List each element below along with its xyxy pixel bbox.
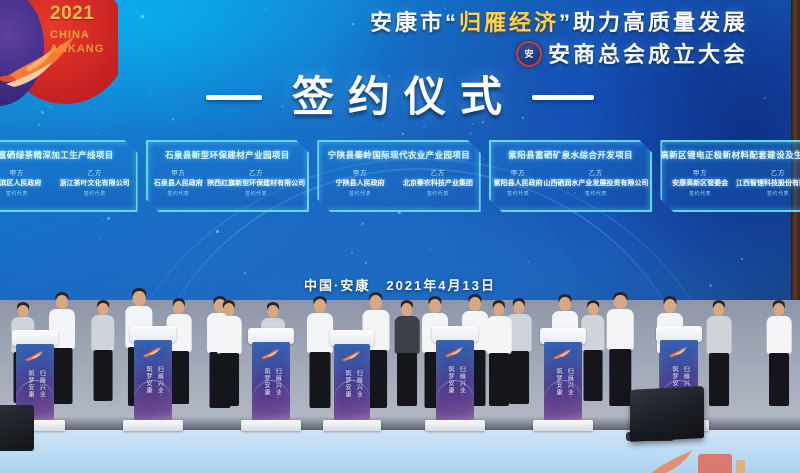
- page-title: 签约仪式: [278, 76, 516, 118]
- podium-base: [425, 420, 485, 431]
- attendee-torso: [91, 315, 114, 351]
- party-a-role: 甲方: [664, 170, 736, 178]
- party-a-sign: 签约代表: [150, 190, 208, 197]
- panel-parties: 甲方 宁陕县人民政府 签约代表 乙方 北京秦农科技产业集团 签约代表: [321, 170, 477, 197]
- party-a-name: 宁陕县人民政府: [321, 180, 399, 188]
- goose-mark-icon: [260, 347, 282, 361]
- ceremony-title-block: 签约仪式: [0, 76, 800, 118]
- goose-mark-icon: [668, 345, 690, 359]
- party-a-role: 甲方: [150, 170, 208, 178]
- party-a: 甲方 石泉县人民政府 签约代表: [150, 170, 208, 197]
- logo-wordmark: 2021 CHINA ANKANG: [50, 4, 104, 55]
- party-a-sign: 签约代表: [0, 190, 56, 197]
- attendee-torso: [217, 316, 242, 354]
- project-title: 石泉县新型环保建材产业园项目: [146, 149, 310, 161]
- party-a: 甲方 紫阳县人民政府 签约代表: [493, 170, 544, 197]
- attendee-head: [773, 303, 784, 316]
- attendee-head: [133, 291, 146, 306]
- attendee-legs: [584, 350, 603, 400]
- attendee-torso: [487, 316, 512, 354]
- party-a-name: 汉滨区人民政府: [0, 180, 56, 188]
- party-a-name: 安康高新区管委会: [664, 180, 736, 188]
- attendee-legs: [310, 352, 331, 408]
- party-b-name: 北京秦农科技产业集团: [399, 180, 477, 188]
- attendee-head: [314, 299, 326, 313]
- party-b-role: 乙方: [56, 170, 134, 178]
- party-b: 乙方 山西硒润水产业发展投资有限公司 签约代表: [543, 170, 648, 197]
- quote-close: ”: [559, 10, 573, 35]
- project-title: 富硒绿茶精深加工生产线项目: [0, 149, 138, 161]
- party-a-role: 甲方: [321, 170, 399, 178]
- panel-parties: 甲方 紫阳县人民政府 签约代表 乙方 山西硒润水产业发展投资有限公司 签约代表: [493, 170, 649, 197]
- anshang-chamber-emblem-icon: [516, 41, 542, 67]
- podium-banner: 归雁兴业·筑梦安康: [334, 344, 370, 421]
- project-panel-row: 富硒绿茶精深加工生产线项目 甲方 汉滨区人民政府 签约代表 乙方 浙江茶叶文化有…: [0, 140, 800, 215]
- attendee-legs: [709, 353, 729, 406]
- attendee-head: [429, 299, 441, 313]
- goose-mark-icon: [24, 349, 46, 363]
- party-b-name: 浙江茶叶文化有限公司: [56, 180, 134, 188]
- party-a-role: 甲方: [493, 170, 544, 178]
- title-left-rule: [206, 95, 262, 100]
- party-b-sign: 签约代表: [736, 190, 800, 197]
- party-b-sign: 签约代表: [207, 190, 305, 197]
- podium-banner: 归雁兴业·筑梦安康: [252, 342, 290, 421]
- goose-mark-icon: [341, 349, 363, 363]
- party-b-name: 陕西红旗新型环保建材有限公司: [207, 180, 305, 188]
- podium-banner: 归雁兴业·筑梦安康: [436, 340, 474, 421]
- party-a-sign: 签约代表: [493, 190, 544, 197]
- attendee: [760, 300, 798, 433]
- party-b: 乙方 北京秦农科技产业集团 签约代表: [399, 170, 477, 197]
- attendee-legs: [94, 350, 113, 400]
- attendee-head: [18, 305, 29, 318]
- date-cn-value: 2021年4月13日: [386, 278, 496, 293]
- party-b-role: 乙方: [543, 170, 648, 178]
- attendee: [700, 300, 738, 433]
- project-panel: 石泉县新型环保建材产业园项目 甲方 石泉县人民政府 签约代表 乙方 陕西红旗新型…: [146, 140, 310, 212]
- attendee-head: [268, 305, 279, 318]
- panel-parties: 甲方 汉滨区人民政府 签约代表 乙方 浙江茶叶文化有限公司 签约代表: [0, 170, 134, 197]
- logo-year: 2021: [50, 4, 104, 23]
- party-b: 乙方 陕西红旗新型环保建材有限公司 签约代表: [207, 170, 305, 197]
- project-panel: 紫阳县富硒矿泉水综合开发项目 甲方 紫阳县人民政府 签约代表 乙方 山西硒润水产…: [489, 140, 653, 212]
- attendee-legs: [610, 349, 631, 406]
- attendee-head: [56, 295, 68, 309]
- signing-podium: 归雁兴业·筑梦安康: [330, 330, 374, 431]
- party-a-sign: 签约代表: [664, 190, 736, 197]
- goose-mark-icon: [552, 347, 574, 361]
- party-b-name: 山西硒润水产业发展投资有限公司: [543, 180, 648, 188]
- signing-podium: 归雁兴业·筑梦安康: [540, 328, 586, 431]
- panel-parties: 甲方 安康高新区管委会 签约代表 乙方 江西智锂科技股份有限公司 签约代表: [664, 170, 800, 197]
- party-b-sign: 签约代表: [543, 190, 648, 197]
- attendee-head: [98, 303, 109, 316]
- attendee-legs: [397, 353, 417, 406]
- party-a: 甲方 安康高新区管委会 签约代表: [664, 170, 736, 197]
- party-b-role: 乙方: [736, 170, 800, 178]
- place-cn: 中国·安康: [304, 278, 370, 293]
- headline-line-1: 安康市“归雁经济”助力高质量发展: [370, 10, 748, 35]
- attendee-head: [223, 303, 234, 316]
- logo-country: CHINA: [50, 30, 104, 41]
- attendee-head: [664, 299, 676, 313]
- panel-parties: 甲方 石泉县人民政府 签约代表 乙方 陕西红旗新型环保建材有限公司 签约代表: [150, 170, 306, 197]
- project-panel: 富硒绿茶精深加工生产线项目 甲方 汉滨区人民政府 签约代表 乙方 浙江茶叶文化有…: [0, 140, 138, 212]
- stage-monitor-left: [0, 405, 34, 451]
- headline-subtitle: 安商总会成立大会: [548, 42, 748, 67]
- attendee-torso: [707, 316, 732, 354]
- attendee-legs: [219, 353, 239, 406]
- podium-base: [533, 420, 593, 431]
- attendee-head: [588, 303, 599, 316]
- attendee-head: [401, 303, 412, 316]
- floor-logo-graphic: [636, 440, 756, 473]
- attendee-head: [713, 303, 724, 316]
- party-b-role: 乙方: [399, 170, 477, 178]
- project-panel: 宁陕县秦岭国际现代农业产业园项目 甲方 宁陕县人民政府 签约代表 乙方 北京秦农…: [317, 140, 481, 212]
- attendee: [480, 300, 518, 433]
- project-panel: 高新区锂电正极新材料配套建设及生产项目 甲方 安康高新区管委会 签约代表 乙方 …: [660, 140, 800, 212]
- podium-banner-swoosh: [134, 380, 172, 415]
- party-a-sign: 签约代表: [321, 190, 399, 197]
- quote-open: “: [445, 10, 459, 35]
- signing-podium: 归雁兴业·筑梦安康: [130, 326, 176, 431]
- headline-accent-term: 归雁经济: [459, 10, 559, 35]
- attendee: [85, 300, 121, 426]
- podium-banner: 归雁兴业·筑梦安康: [134, 340, 172, 421]
- podium-base: [241, 420, 301, 431]
- party-a-role: 甲方: [0, 170, 56, 178]
- podium-base: [123, 420, 183, 431]
- podium-banner: 归雁兴业·筑梦安康: [544, 342, 582, 421]
- attendee-head: [370, 295, 382, 310]
- speaker-foot: [626, 432, 674, 441]
- podium-banner-swoosh: [252, 380, 290, 415]
- party-b: 乙方 浙江茶叶文化有限公司 签约代表: [56, 170, 134, 197]
- headline-line-2: 安商总会成立大会: [370, 41, 748, 67]
- podium-banner-swoosh: [544, 380, 582, 415]
- project-title: 宁陕县秦岭国际现代农业产业园项目: [317, 149, 481, 161]
- goose-mark-icon: [142, 345, 164, 359]
- party-b: 乙方 江西智锂科技股份有限公司 签约代表: [736, 170, 800, 197]
- party-b-sign: 签约代表: [399, 190, 477, 197]
- attendee-torso: [767, 316, 792, 354]
- party-b-name: 江西智锂科技股份有限公司: [736, 180, 800, 188]
- podium-banner-swoosh: [334, 380, 370, 415]
- attendee: [210, 300, 248, 433]
- logo-city: ANKANG: [50, 44, 104, 55]
- signing-podium: 归雁兴业·筑梦安康: [248, 328, 294, 431]
- goose-mark-icon: [444, 345, 466, 359]
- attendee-head: [173, 301, 184, 314]
- attendee-torso: [607, 309, 634, 350]
- podium-banner-swoosh: [436, 380, 474, 415]
- headline-tail: 助力高质量发展: [573, 10, 748, 35]
- signing-podium: 归雁兴业·筑梦安康: [432, 326, 478, 431]
- title-right-rule: [532, 95, 594, 100]
- party-a-name: 石泉县人民政府: [150, 180, 208, 188]
- project-title: 紫阳县富硒矿泉水综合开发项目: [489, 149, 653, 161]
- podium-base: [323, 420, 381, 431]
- party-b-role: 乙方: [207, 170, 305, 178]
- attendee-head: [493, 303, 504, 316]
- project-title: 高新区锂电正极新材料配套建设及生产项目: [660, 149, 800, 161]
- attendee-legs: [489, 353, 509, 406]
- attendee-head: [614, 295, 626, 309]
- event-stage-screenshot: 2021 CHINA ANKANG 安康市“归雁经济”助力高质量发展 安商总会成…: [0, 0, 800, 473]
- party-b-sign: 签约代表: [56, 190, 134, 197]
- party-a: 甲方 汉滨区人民政府 签约代表: [0, 170, 56, 197]
- event-headline: 安康市“归雁经济”助力高质量发展 安商总会成立大会: [370, 10, 748, 67]
- headline-city: 安康市: [370, 10, 445, 35]
- attendee-head: [559, 297, 571, 311]
- party-a: 甲方 宁陕县人民政府 签约代表: [321, 170, 399, 197]
- party-a-name: 紫阳县人民政府: [493, 180, 544, 188]
- attendee-legs: [769, 353, 789, 406]
